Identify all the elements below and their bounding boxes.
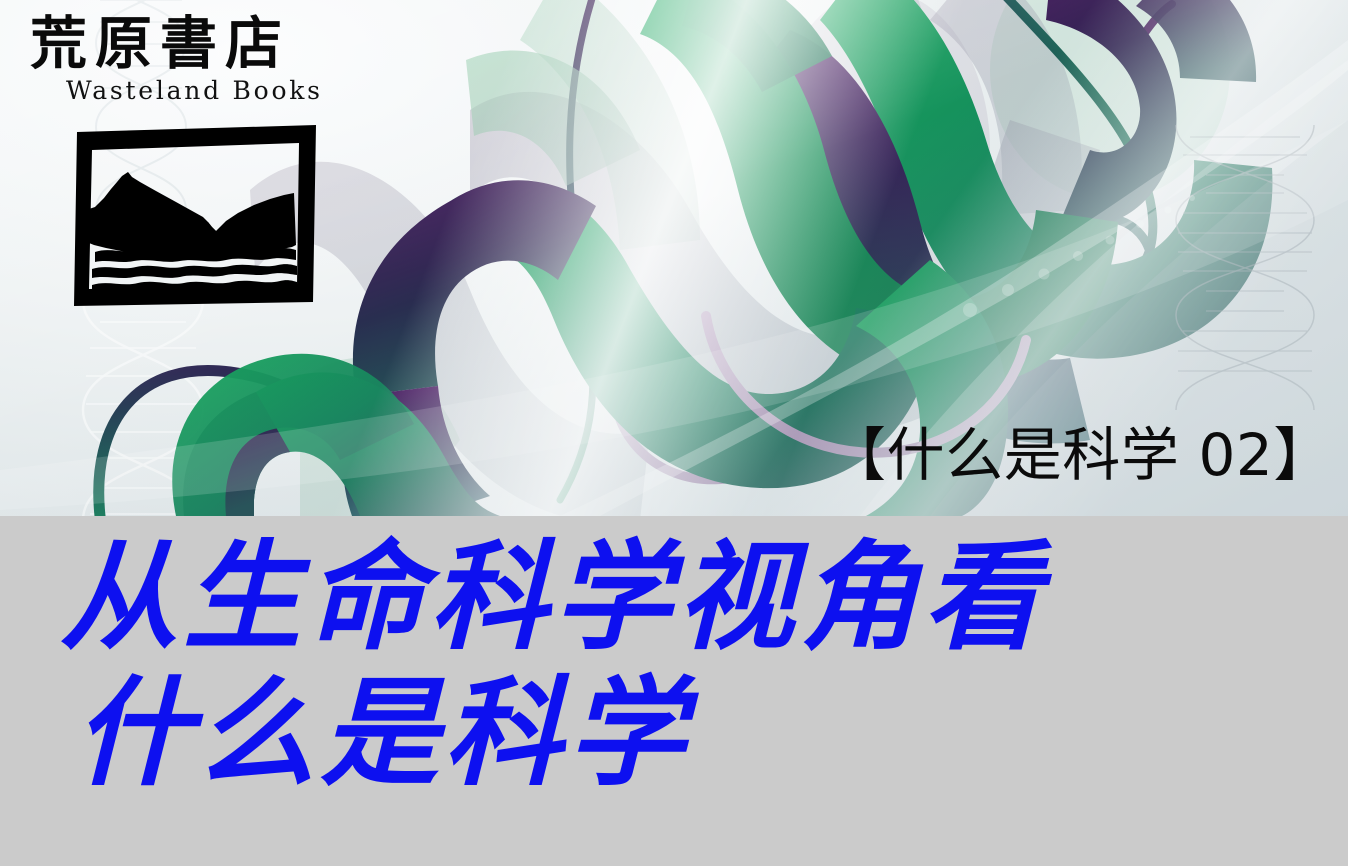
artwork-band: 荒原書店 Wasteland Books 【什么是科学 02】	[0, 0, 1348, 516]
poster-canvas: 荒原書店 Wasteland Books 【什么是科学 02】 从生命科学视角看…	[0, 0, 1348, 866]
brand-logo: 荒原書店 Wasteland Books	[22, 14, 382, 314]
title-line-1: 从生命科学视角看	[60, 538, 1290, 656]
title-panel: 从生命科学视角看 什么是科学	[0, 516, 1348, 866]
title-line-2: 什么是科学	[60, 674, 1290, 792]
series-badge: 【什么是科学 02】	[828, 426, 1332, 484]
brand-name-cn: 荒原書店	[22, 14, 382, 74]
brand-name-en: Wasteland Books	[22, 76, 382, 105]
poster-title: 从生命科学视角看 什么是科学	[60, 538, 1290, 792]
woodcut-landscape-stamp-icon	[70, 119, 320, 309]
